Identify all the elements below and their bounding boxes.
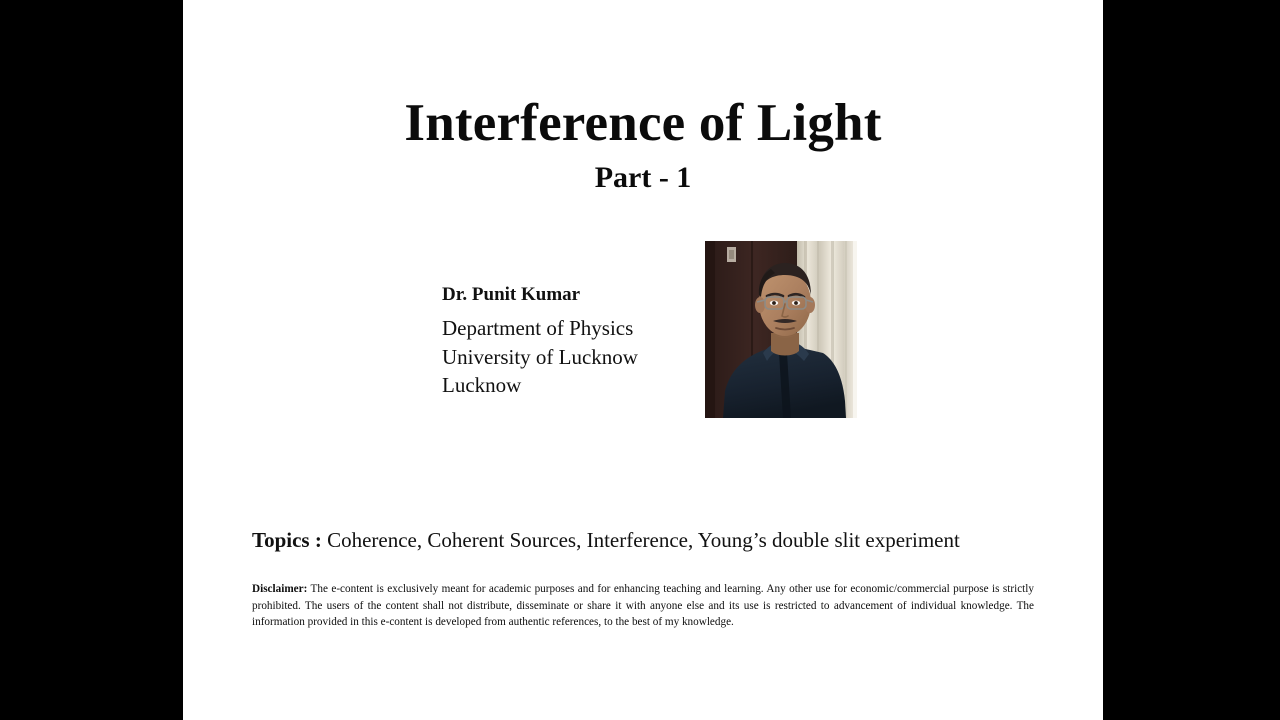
affiliation-line-department: Department of Physics <box>442 314 742 343</box>
author-block: Dr. Punit Kumar Department of Physics Un… <box>442 285 742 400</box>
portrait-illustration <box>705 241 857 418</box>
affiliation-line-city: Lucknow <box>442 371 742 400</box>
affiliation-line-university: University of Lucknow <box>442 343 742 372</box>
letterbox-bar-right <box>1103 0 1280 720</box>
topics-value: Coherence, Coherent Sources, Interferenc… <box>322 528 960 552</box>
topics-label: Topics : <box>252 528 322 552</box>
disclaimer-label: Disclaimer: <box>252 583 307 595</box>
video-frame: Interference of Light Part - 1 Dr. Punit… <box>0 0 1280 720</box>
author-affiliation: Department of Physics University of Luck… <box>442 314 742 400</box>
presentation-slide: Interference of Light Part - 1 Dr. Punit… <box>183 0 1103 720</box>
title-block: Interference of Light Part - 1 <box>183 96 1103 194</box>
page-title: Interference of Light <box>183 96 1103 152</box>
disclaimer-paragraph: Disclaimer: The e-content is exclusively… <box>252 581 1034 631</box>
author-portrait-photo <box>705 241 857 418</box>
letterbox-bar-left <box>0 0 183 720</box>
author-name: Dr. Punit Kumar <box>442 285 742 304</box>
disclaimer-body: The e-content is exclusively meant for a… <box>252 583 1034 628</box>
topics-line: Topics : Coherence, Coherent Sources, In… <box>252 527 1052 553</box>
subtitle: Part - 1 <box>183 161 1103 194</box>
